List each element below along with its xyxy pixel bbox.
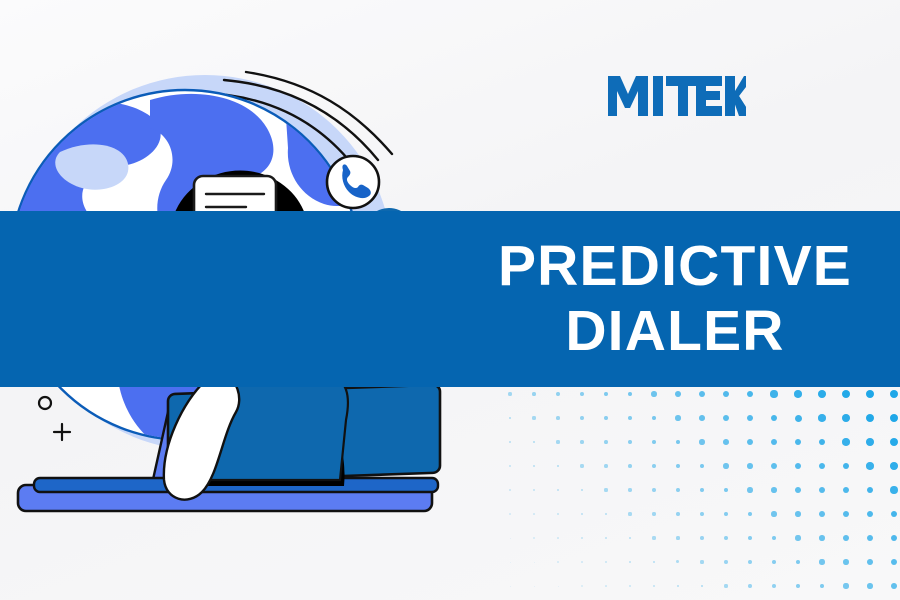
decorative-dot	[890, 438, 898, 446]
decorative-dot	[818, 414, 825, 421]
decorative-dot	[629, 585, 631, 587]
decorative-dot	[675, 391, 681, 397]
decorative-dot	[772, 584, 776, 588]
decorative-dot	[842, 438, 849, 445]
decorative-dot	[699, 391, 705, 397]
decorative-dot	[699, 439, 704, 444]
decorative-dot	[534, 562, 535, 563]
phone-icon	[327, 156, 379, 208]
decorative-dot	[723, 391, 729, 397]
decorative-dot	[580, 416, 584, 420]
decorative-dot	[843, 559, 848, 564]
decorative-dot	[557, 489, 559, 491]
decorative-dot	[532, 416, 535, 419]
decorative-dot	[532, 392, 536, 396]
decorative-dot	[700, 488, 705, 493]
decorative-dot	[558, 586, 559, 587]
decorative-dot	[653, 561, 656, 564]
decorative-dot	[748, 512, 753, 517]
decorative-dot	[581, 537, 583, 539]
decorative-dot	[890, 462, 898, 470]
decorative-dot	[581, 513, 583, 515]
decorative-dot	[772, 560, 776, 564]
decorative-dot	[508, 392, 511, 395]
decorative-dot	[700, 560, 703, 563]
decorative-dot	[676, 464, 681, 469]
decorative-dot	[771, 463, 777, 469]
decorative-dot	[676, 440, 681, 445]
decorative-dot	[795, 439, 802, 446]
decorative-dot	[676, 488, 680, 492]
decorative-dot	[628, 416, 633, 421]
decorative-dot	[867, 559, 873, 565]
decorative-dot	[628, 512, 631, 515]
decorative-dot	[866, 462, 873, 469]
decorative-dot	[700, 464, 705, 469]
decorative-dot	[628, 440, 632, 444]
decorative-dot	[747, 415, 753, 421]
decorative-dot	[867, 511, 874, 518]
decorative-dot	[843, 511, 849, 517]
decorative-dot	[819, 439, 826, 446]
decorative-dot	[509, 489, 511, 491]
decorative-dot	[533, 441, 536, 444]
decorative-dot	[556, 392, 560, 396]
decorative-dot	[795, 511, 800, 516]
decorative-dot	[534, 586, 535, 587]
decorative-dot	[652, 512, 655, 515]
decorative-dot	[676, 536, 679, 539]
decorative-dot	[842, 390, 850, 398]
decorative-dot	[629, 561, 631, 563]
decorative-dot	[819, 463, 826, 470]
decorative-dot	[604, 488, 607, 491]
decorative-dot	[891, 511, 898, 518]
decorative-dot	[747, 463, 753, 469]
decorative-dot	[842, 414, 850, 422]
decorative-dot	[557, 561, 558, 562]
decorative-dot	[890, 390, 899, 399]
decorative-dot	[533, 513, 535, 515]
decorative-dot	[796, 560, 801, 565]
dot-matrix-decoration	[498, 392, 900, 600]
decorative-dot	[509, 465, 511, 467]
decorative-dot	[628, 488, 631, 491]
decorative-dot	[651, 391, 656, 396]
decorative-dot	[772, 536, 777, 541]
decorative-dot	[510, 562, 511, 563]
decorative-dot	[700, 536, 704, 540]
decorative-dot	[653, 585, 655, 587]
decorative-dot	[891, 535, 897, 541]
decorative-dot	[818, 390, 826, 398]
decorative-dot	[557, 465, 560, 468]
decorative-dot	[724, 560, 728, 564]
page-title-line-1: PREDICTIVE	[498, 237, 852, 296]
decorative-dot	[890, 486, 897, 493]
decorative-dot	[747, 391, 754, 398]
decorative-dot	[605, 513, 608, 516]
decorative-dot	[533, 465, 535, 467]
decorative-dot	[628, 392, 633, 397]
decorative-dot	[771, 511, 776, 516]
decorative-dot	[724, 488, 729, 493]
page-title-line-2: DIALER	[565, 302, 784, 361]
decorative-dot	[533, 489, 535, 491]
decorative-dot	[723, 415, 729, 421]
decorative-dot	[652, 440, 657, 445]
decorative-dot	[796, 584, 800, 588]
mitek-logo-wordmark	[608, 76, 746, 116]
decorative-dot	[891, 559, 897, 565]
circle-outline-mark	[39, 397, 51, 409]
decorative-dot	[509, 513, 510, 514]
decorative-dot	[605, 585, 607, 587]
decorative-dot	[724, 536, 728, 540]
decorative-dot	[510, 538, 511, 539]
decorative-dot	[795, 487, 801, 493]
decorative-dot	[604, 416, 608, 420]
decorative-dot	[604, 392, 609, 397]
decorative-dot	[701, 585, 704, 588]
decorative-dot	[748, 584, 752, 588]
decorative-dot	[509, 417, 512, 420]
decorative-dot	[605, 537, 607, 539]
decorative-dot	[604, 464, 608, 468]
decorative-dot	[867, 535, 873, 541]
decorative-dot	[866, 414, 874, 422]
decorative-dot	[770, 390, 777, 397]
decorative-dot	[771, 415, 778, 422]
decorative-dot	[580, 392, 584, 396]
decorative-dot	[556, 440, 559, 443]
decorative-dot	[867, 583, 872, 588]
poster-canvas: PREDICTIVE DIALER	[0, 0, 900, 600]
decorative-dot	[891, 583, 897, 589]
decorative-dot	[629, 537, 632, 540]
decorative-dot	[866, 390, 874, 398]
decorative-dot	[747, 439, 753, 445]
decorative-dot	[819, 535, 824, 540]
decorative-dot	[557, 513, 559, 515]
decorative-dot	[581, 561, 583, 563]
decorative-dot	[677, 585, 680, 588]
decorative-dot	[580, 464, 583, 467]
decorative-dot	[795, 463, 801, 469]
decorative-dot	[652, 488, 656, 492]
decorative-dot	[724, 584, 727, 587]
decorative-dot	[843, 535, 849, 541]
decorative-dot	[866, 438, 874, 446]
page-title: PREDICTIVE DIALER	[450, 211, 900, 387]
decorative-dot	[533, 537, 534, 538]
decorative-dot	[605, 561, 607, 563]
decorative-dot	[723, 463, 728, 468]
decorative-dot	[581, 585, 582, 586]
decorative-dot	[771, 439, 777, 445]
decorative-dot	[819, 511, 825, 517]
mitek-logo	[606, 74, 746, 118]
decorative-dot	[820, 584, 825, 589]
decorative-dot	[652, 464, 656, 468]
decorative-dot	[652, 416, 657, 421]
decorative-dot	[794, 390, 801, 397]
decorative-dot	[676, 560, 679, 563]
decorative-dot	[556, 416, 560, 420]
decorative-dot	[652, 536, 655, 539]
decorative-dot	[890, 414, 898, 422]
decorative-dot	[748, 536, 752, 540]
decorative-dot	[795, 415, 802, 422]
decorative-dot	[843, 463, 850, 470]
decorative-dot	[604, 440, 608, 444]
decorative-dot	[723, 439, 729, 445]
sparkle-mark-left	[54, 424, 70, 440]
decorative-dot	[819, 487, 825, 493]
decorative-dot	[843, 487, 850, 494]
decorative-dot	[580, 440, 584, 444]
decorative-dot	[557, 537, 559, 539]
decorative-dot	[771, 487, 777, 493]
decorative-dot	[747, 487, 752, 492]
decorative-dot	[700, 512, 704, 516]
decorative-dot	[676, 512, 680, 516]
decorative-dot	[819, 559, 824, 564]
decorative-dot	[581, 489, 584, 492]
decorative-dot	[724, 512, 728, 516]
decorative-dot	[795, 535, 800, 540]
decorative-dot	[699, 415, 705, 421]
decorative-dot	[510, 586, 511, 587]
decorative-dot	[509, 441, 512, 444]
decorative-dot	[628, 464, 632, 468]
decorative-dot	[675, 415, 680, 420]
decorative-dot	[867, 487, 874, 494]
decorative-dot	[843, 583, 848, 588]
decorative-dot	[748, 560, 752, 564]
